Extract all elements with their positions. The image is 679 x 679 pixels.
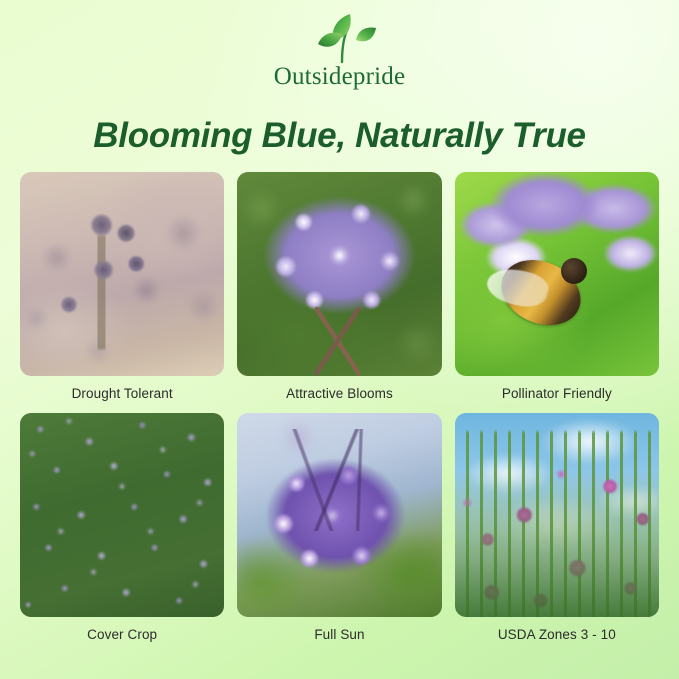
brand-logo: Outsidepride xyxy=(0,10,679,90)
brand-wordmark: Outsidepride xyxy=(0,64,679,90)
feature-caption: Cover Crop xyxy=(87,627,157,642)
photo-stem xyxy=(315,307,360,376)
product-feature-poster: Outsidepride Blooming Blue, Naturally Tr… xyxy=(0,0,679,679)
feature-cell: Attractive Blooms xyxy=(237,172,441,407)
feature-grid: Drought Tolerant Attractive Blooms Polli… xyxy=(20,172,659,648)
feature-caption: Attractive Blooms xyxy=(286,386,393,401)
violet-phacelia-bloom-photo xyxy=(237,413,441,617)
lavender-phacelia-cluster-photo xyxy=(237,172,441,376)
feature-caption: Pollinator Friendly xyxy=(502,386,612,401)
feature-cell: Cover Crop xyxy=(20,413,224,648)
page-title: Blooming Blue, Naturally True xyxy=(0,116,679,156)
feature-cell: Full Sun xyxy=(237,413,441,648)
feature-caption: USDA Zones 3 - 10 xyxy=(498,627,616,642)
photo-seedheads xyxy=(20,172,224,376)
feature-cell: USDA Zones 3 - 10 xyxy=(455,413,659,648)
three-leaf-sprig-icon xyxy=(298,10,382,66)
photo-foliage xyxy=(455,413,659,617)
photo-flower-cluster xyxy=(250,186,430,325)
honeybee-on-phacelia-photo xyxy=(455,172,659,376)
feature-caption: Drought Tolerant xyxy=(72,386,173,401)
dry-field-phacelia-seedheads-photo xyxy=(20,172,224,376)
photo-stamens xyxy=(258,429,417,531)
dense-phacelia-field-photo xyxy=(20,413,224,617)
photo-flower-mass-far xyxy=(20,413,224,617)
feature-cell: Drought Tolerant xyxy=(20,172,224,407)
feature-cell: Pollinator Friendly xyxy=(455,172,659,407)
pink-wildflowers-blue-sky-photo xyxy=(455,413,659,617)
feature-caption: Full Sun xyxy=(314,627,364,642)
